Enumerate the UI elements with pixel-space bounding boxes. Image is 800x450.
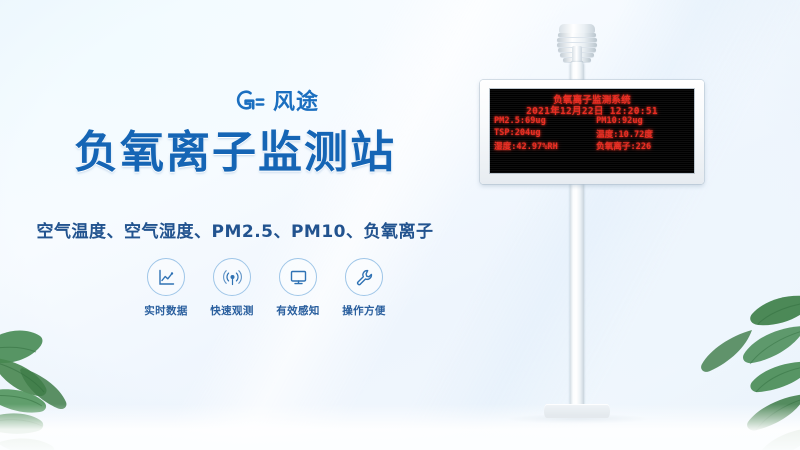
feature-item-fast-observation[interactable]: 快速观测 [206,258,258,318]
led-value-pm10: PM10:92ug [596,116,695,128]
wrench-icon [355,268,374,287]
tropical-leaf-icon [0,306,142,450]
feature-item-effective-sensing[interactable]: 有效感知 [272,258,324,318]
line-chart-icon [157,268,176,287]
led-value-negative-ions: 负氧离子:226 [596,140,695,152]
promo-banner: 风途 负氧离子监测站 空气温度、空气湿度、PM2.5、PM10、负氧离子 实时数… [0,0,800,450]
feature-item-realtime-data[interactable]: 实时数据 [140,258,192,318]
led-value-tsp: TSP:204ug [489,128,596,140]
led-value-humidity: 湿度:42.97%RH [489,140,596,152]
brand-name: 风途 [273,90,319,116]
led-value-pm25: PM2.5:69ug [489,116,596,128]
fengtu-cloud-logo-icon [236,90,266,116]
radar-signal-icon [223,268,242,287]
led-display-panel[interactable]: 负氧离子监测系统 2021年12月22日 12:20:51 PM2.5:69ug… [480,80,704,184]
led-data-row: PM2.5:69ug PM10:92ug [489,116,695,128]
feature-icon-ring [213,258,251,296]
led-value-temperature: 温度:10.72度 [596,128,695,140]
feature-icon-ring [147,258,185,296]
feature-list: 实时数据 快速观测 [140,258,390,318]
page-title: 负氧离子监测站 [0,127,470,179]
tropical-leaf-icon [656,288,800,450]
feature-icon-ring [345,258,383,296]
monitor-icon [289,268,308,287]
brand-logo: 风途 [236,90,319,116]
base-flange-icon [544,404,610,418]
page-subtitle: 空气温度、空气湿度、PM2.5、PM10、负氧离子 [0,220,470,244]
led-datetime-text: 2021年12月22日 12:20:51 [489,103,695,117]
feature-label: 快速观测 [210,303,254,318]
led-screen: 负氧离子监测系统 2021年12月22日 12:20:51 PM2.5:69ug… [489,88,695,174]
led-data-row: TSP:204ug 温度:10.72度 [489,128,695,140]
feature-icon-ring [279,258,317,296]
feature-label: 实时数据 [144,303,188,318]
led-data-row: 湿度:42.97%RH 负氧离子:226 [489,140,695,152]
feature-label: 操作方便 [342,303,386,318]
feature-label: 有效感知 [276,303,320,318]
feature-item-easy-operation[interactable]: 操作方便 [338,258,390,318]
